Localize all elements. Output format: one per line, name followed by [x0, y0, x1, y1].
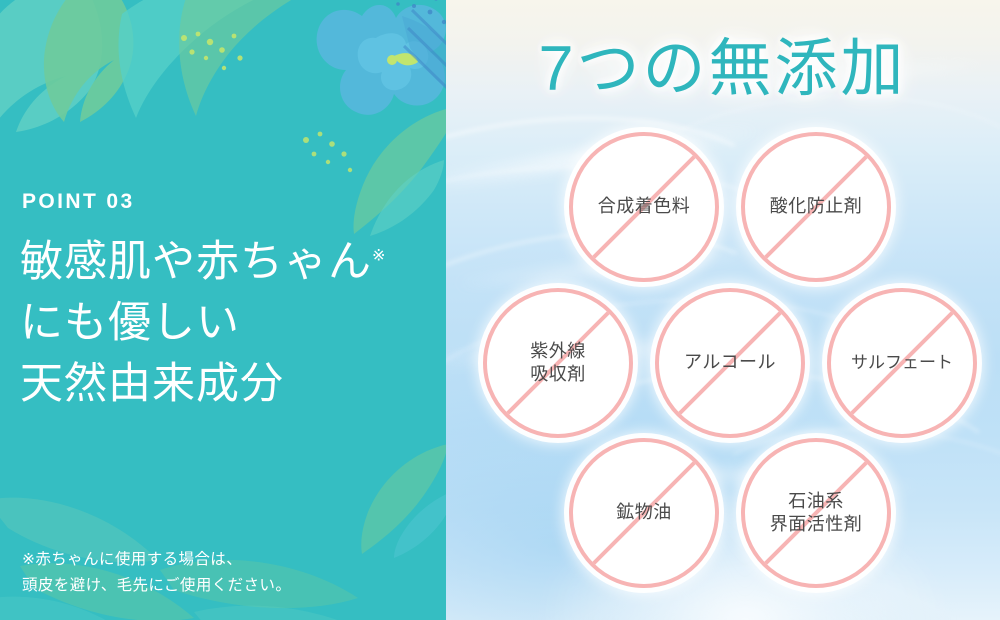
- no-additive-label: 紫外線 吸収剤: [530, 340, 586, 386]
- no-additive-item-2: 紫外線 吸収剤: [483, 288, 633, 438]
- footnote: ※赤ちゃんに使用する場合は、 頭皮を避け、毛先にご使用ください。: [22, 547, 432, 600]
- no-additive-label: サルフェート: [851, 352, 953, 374]
- no-additive-label: 合成着色料: [598, 195, 691, 218]
- no-additive-item-0: 合成着色料: [569, 132, 719, 282]
- lead-line-1: 敏感肌や赤ちゃん※: [20, 232, 440, 293]
- point-label: POINT 03: [22, 190, 135, 214]
- lead-headline: 敏感肌や赤ちゃん※ にも優しい 天然由来成分: [20, 232, 440, 415]
- no-additive-circle-group: 合成着色料 酸化防止剤 紫外線 吸収剤 アルコール サルフェート 鉱物油 石油系…: [445, 0, 1000, 620]
- no-additive-item-4: サルフェート: [827, 288, 977, 438]
- infographic-canvas: POINT 03 敏感肌や赤ちゃん※ にも優しい 天然由来成分 ※赤ちゃんに使用…: [0, 0, 1000, 620]
- hibiscus-flower-icon: [302, 0, 446, 186]
- dot-cluster-icon: [296, 128, 366, 184]
- footnote-marker: ※: [372, 248, 385, 265]
- lead-line-2: にも優しい: [20, 293, 440, 354]
- no-additive-item-1: 酸化防止剤: [741, 132, 891, 282]
- palm-frond-icon: [112, 0, 372, 148]
- leaf-icon: [340, 96, 446, 236]
- footnote-line-2: 頭皮を避け、毛先にご使用ください。: [22, 573, 432, 599]
- striped-leaf-icon: [392, 6, 446, 176]
- lead-line-3: 天然由来成分: [20, 354, 440, 415]
- dot-cluster-icon: [176, 28, 256, 88]
- no-additive-label: 酸化防止剤: [770, 195, 863, 218]
- no-additive-item-5: 鉱物油: [569, 438, 719, 588]
- no-additive-label: アルコール: [684, 351, 776, 374]
- monstera-leaf-icon: [0, 0, 270, 172]
- no-additive-label: 石油系 界面活性剤: [770, 490, 863, 536]
- footnote-line-1: ※赤ちゃんに使用する場合は、: [22, 547, 432, 573]
- no-additive-item-3: アルコール: [655, 288, 805, 438]
- lead-line-1-text: 敏感肌や赤ちゃん: [20, 238, 372, 286]
- left-teal-panel: POINT 03 敏感肌や赤ちゃん※ にも優しい 天然由来成分 ※赤ちゃんに使用…: [0, 0, 446, 620]
- no-additive-item-6: 石油系 界面活性剤: [741, 438, 891, 588]
- no-additive-label: 鉱物油: [616, 501, 672, 524]
